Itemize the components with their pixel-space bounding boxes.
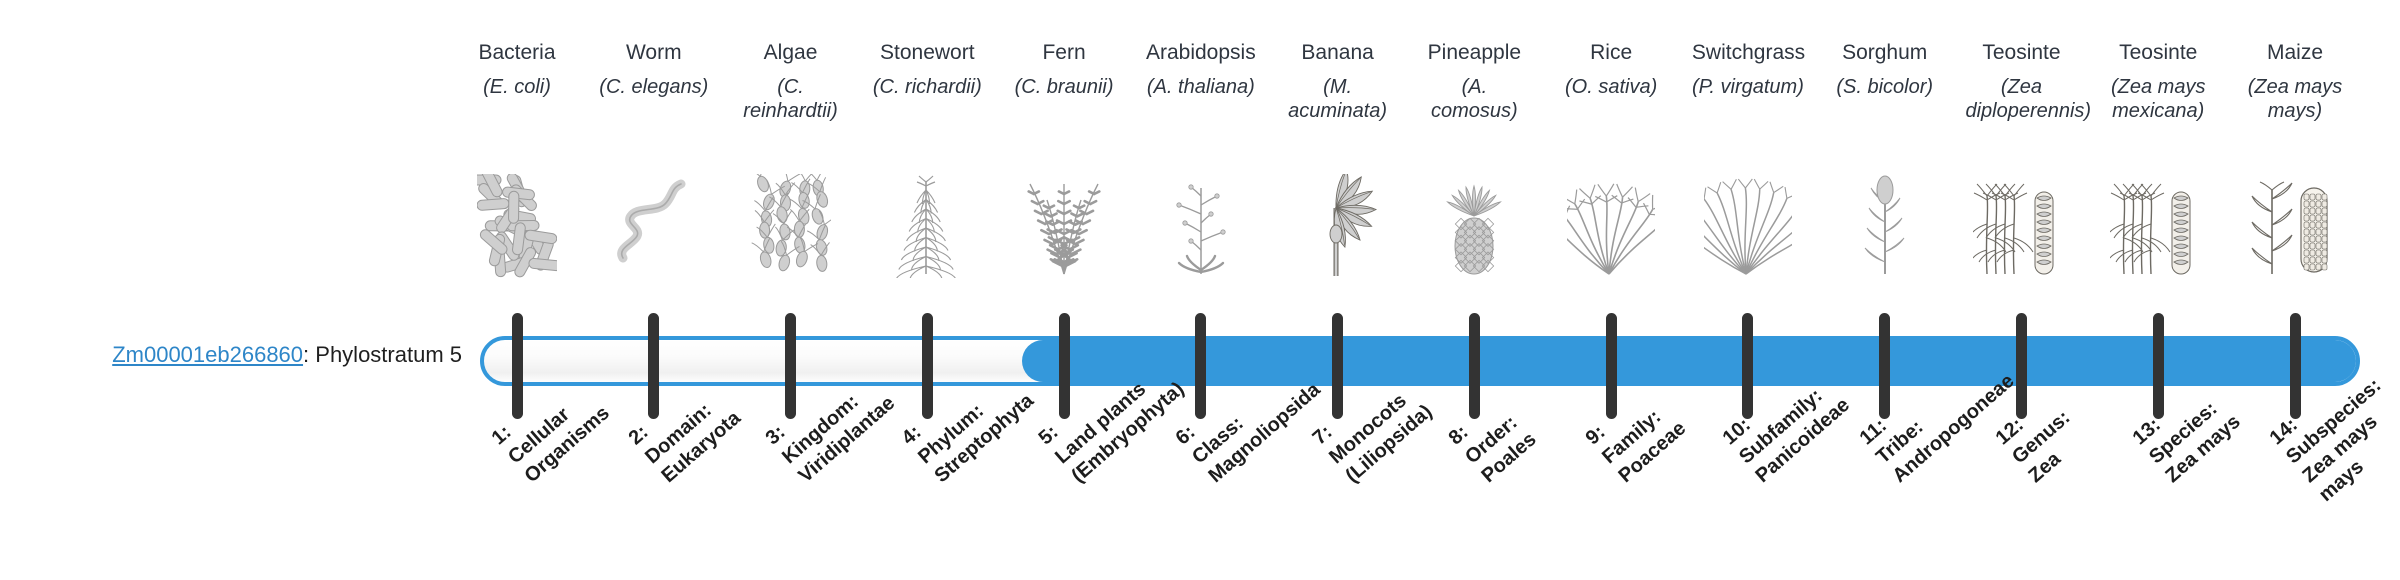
species-scientific-name: (C. braunii) (1008, 75, 1120, 127)
worm-illustration (598, 168, 710, 278)
species-common-name: Worm (598, 40, 710, 66)
species-columns: Bacteria(E. coli) (0, 0, 2400, 580)
pineapple-illustration (1418, 168, 1530, 278)
fern-illustration (1008, 168, 1120, 278)
species-scientific-name: (Zea mays mexicana) (2102, 75, 2214, 127)
gene-id-link[interactable]: Zm00001eb266860 (112, 342, 303, 367)
species-common-name: Banana (1282, 40, 1394, 66)
species-common-name: Stonewort (871, 40, 983, 66)
sorghum-illustration (1829, 168, 1941, 278)
gene-phylostratum-label: Zm00001eb266860: Phylostratum 5 (22, 340, 462, 370)
species-common-name: Algae (735, 40, 847, 66)
species-column-algae-3: Algae(C. reinhardtii) (735, 0, 847, 127)
species-common-name: Sorghum (1829, 40, 1941, 66)
species-scientific-name: (M. acuminata) (1282, 75, 1394, 127)
species-scientific-name: (O. sativa) (1555, 75, 1667, 127)
rank-label-12: 12: Genus: Zea (1991, 387, 2092, 489)
species-column-teosinte-12: Teosinte(Zea diploperennis) (1965, 0, 2077, 127)
bacteria-illustration (461, 168, 573, 278)
banana-illustration (1282, 168, 1394, 278)
species-common-name: Arabidopsis (1145, 40, 1257, 66)
algae-illustration (735, 168, 847, 278)
phylostratum-progress-track[interactable] (480, 336, 2360, 386)
arabidopsis-illustration (1145, 168, 1257, 278)
phylostratum-timeline: Bacteria(E. coli) (0, 0, 2400, 580)
species-scientific-name: (Zea diploperennis) (1965, 75, 2077, 127)
species-common-name: Teosinte (1965, 40, 2077, 66)
species-column-stonewort-4: Stonewort(C. richardii) (871, 0, 983, 127)
rank-label-13: 13: Species: Zea mays (2128, 372, 2246, 488)
species-common-name: Fern (1008, 40, 1120, 66)
stonewort-illustration (871, 168, 983, 278)
switchgrass-illustration (1692, 168, 1804, 278)
species-common-name: Maize (2239, 40, 2351, 66)
rice-illustration (1555, 168, 1667, 278)
species-scientific-name: (C. elegans) (598, 75, 710, 127)
species-common-name: Teosinte (2102, 40, 2214, 66)
species-column-arabidopsis-6: Arabidopsis(A. thaliana) (1145, 0, 1257, 127)
species-column-worm-2: Worm(C. elegans) (598, 0, 710, 127)
species-scientific-name: (S. bicolor) (1829, 75, 1941, 127)
species-common-name: Rice (1555, 40, 1667, 66)
species-scientific-name: (C. richardii) (871, 75, 983, 127)
rank-label-9: 9: Family: Poaceae (1581, 379, 1691, 489)
species-column-banana-7: Banana(M. acuminata) (1282, 0, 1394, 127)
species-scientific-name: (Zea mays mays) (2239, 75, 2351, 127)
species-scientific-name: (A. comosus) (1418, 75, 1530, 127)
species-column-sorghum-11: Sorghum(S. bicolor) (1829, 0, 1941, 127)
species-common-name: Pineapple (1418, 40, 1530, 66)
species-common-name: Bacteria (461, 40, 573, 66)
species-common-name: Switchgrass (1692, 40, 1804, 66)
teosinte-diploperennis-illustration (1965, 168, 2077, 278)
species-column-pineapple-8: Pineapple(A. comosus) (1418, 0, 1530, 127)
teosinte-mexicana-illustration (2102, 168, 2214, 278)
species-column-teosinte-13: Teosinte(Zea mays mexicana) (2102, 0, 2214, 127)
species-column-switchgrass-10: Switchgrass(P. virgatum) (1692, 0, 1804, 127)
species-column-maize-14: Maize(Zea mays mays) (2239, 0, 2351, 127)
species-column-bacteria-1: Bacteria(E. coli) (461, 0, 573, 127)
species-scientific-name: (E. coli) (461, 75, 573, 127)
species-scientific-name: (C. reinhardtii) (735, 75, 847, 127)
maize-illustration (2239, 168, 2351, 278)
species-column-fern-5: Fern(C. braunii) (1008, 0, 1120, 127)
species-scientific-name: (A. thaliana) (1145, 75, 1257, 127)
phylostratum-value: Phylostratum 5 (315, 342, 462, 367)
rank-label-2: 2: Domain: Eukaryota (624, 369, 746, 489)
rank-label-8: 8: Order: Poales (1444, 390, 1542, 489)
species-column-rice-9: Rice(O. sativa) (1555, 0, 1667, 127)
gene-label-separator: : (303, 342, 315, 367)
species-scientific-name: (P. virgatum) (1692, 75, 1804, 127)
